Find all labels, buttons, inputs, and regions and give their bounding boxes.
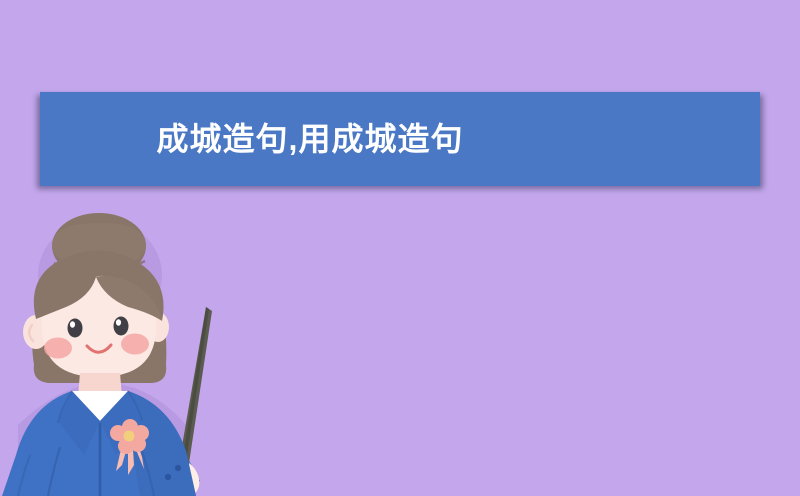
page-title: 成城造句,用成城造句 bbox=[157, 123, 464, 155]
title-banner: 成城造句,用成城造句 bbox=[40, 92, 760, 186]
page-canvas: 成城造句,用成城造句 bbox=[0, 0, 800, 496]
teacher-illustration bbox=[0, 215, 260, 496]
